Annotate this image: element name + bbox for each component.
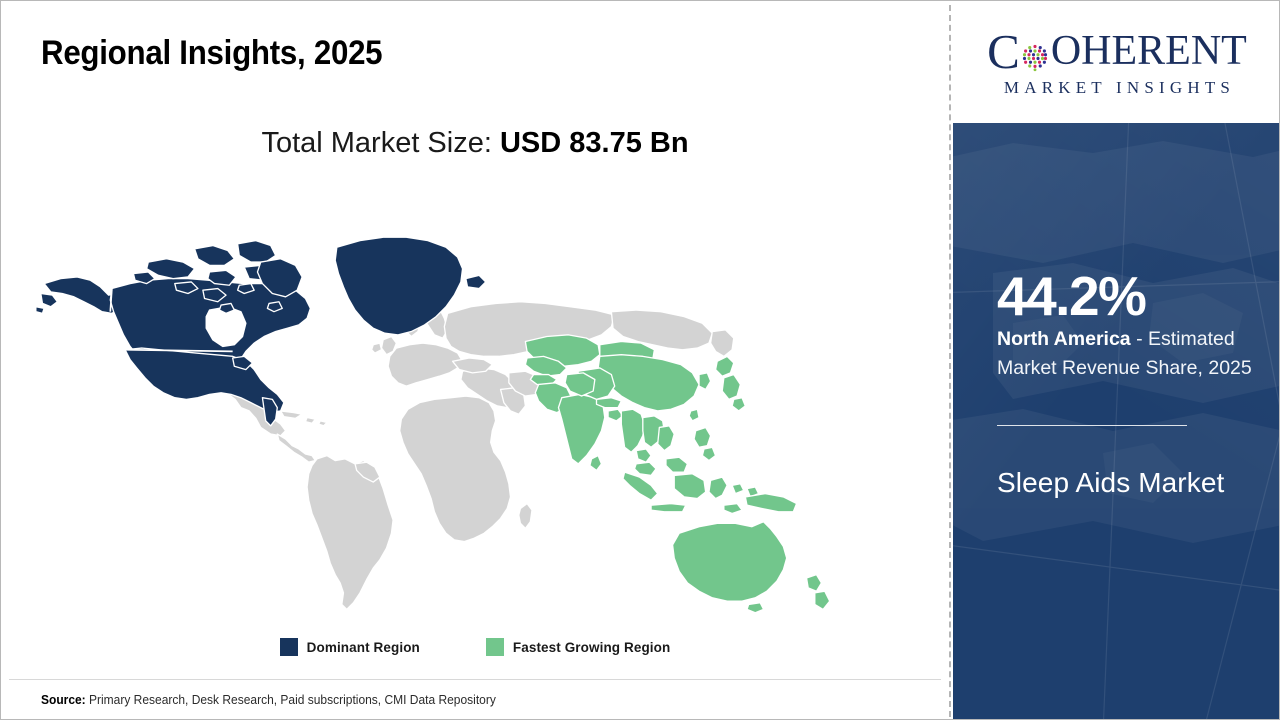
- vertical-dashed-divider: [949, 5, 951, 717]
- stat-panel: 44.2% North America - Estimated Market R…: [953, 123, 1280, 720]
- dotted-globe-icon: [1020, 38, 1050, 68]
- map-region-fastest-growing-asia-pacific: [525, 335, 829, 613]
- brand-logo: C: [953, 1, 1280, 123]
- revenue-share-description: North America - Estimated Market Revenue…: [997, 325, 1263, 383]
- stat-panel-divider: [997, 425, 1187, 426]
- left-content-panel: Regional Insights, 2025 Total Market Siz…: [1, 1, 949, 720]
- logo-letters-rest: OHERENT: [1051, 30, 1247, 72]
- legend-label-dominant: Dominant Region: [307, 640, 420, 655]
- market-name: Sleep Aids Market: [997, 463, 1247, 503]
- logo-letter-c: C: [987, 27, 1020, 76]
- legend-label-fastest-growing: Fastest Growing Region: [513, 640, 670, 655]
- legend-item-fastest-growing: Fastest Growing Region: [486, 638, 670, 656]
- legend-item-dominant: Dominant Region: [280, 638, 420, 656]
- page-title: Regional Insights, 2025: [41, 34, 382, 73]
- region-name: North America: [997, 328, 1131, 350]
- source-divider: [9, 679, 941, 680]
- panel-world-map-texture-icon: [953, 123, 1280, 720]
- square-swatch-dominant-icon: [280, 638, 298, 656]
- revenue-share-percent: 44.2%: [997, 269, 1145, 324]
- map-region-inactive: [216, 302, 734, 616]
- logo-wordmark: C: [987, 27, 1247, 76]
- source-note: Source: Primary Research, Desk Research,…: [41, 693, 496, 707]
- map-legend: Dominant Region Fastest Growing Region: [1, 638, 949, 656]
- world-map: [31, 186, 861, 616]
- logo-subtitle: MARKET INSIGHTS: [999, 78, 1235, 98]
- market-size-label: Total Market Size:: [261, 127, 500, 159]
- market-size-value: USD 83.75 Bn: [500, 127, 689, 159]
- total-market-size: Total Market Size: USD 83.75 Bn: [1, 127, 949, 160]
- source-label: Source:: [41, 693, 86, 707]
- square-swatch-fastest-growing-icon: [486, 638, 504, 656]
- regional-insights-infographic: Regional Insights, 2025 Total Market Siz…: [0, 0, 1280, 720]
- source-text: Primary Research, Desk Research, Paid su…: [86, 693, 496, 707]
- world-map-svg: [31, 186, 861, 616]
